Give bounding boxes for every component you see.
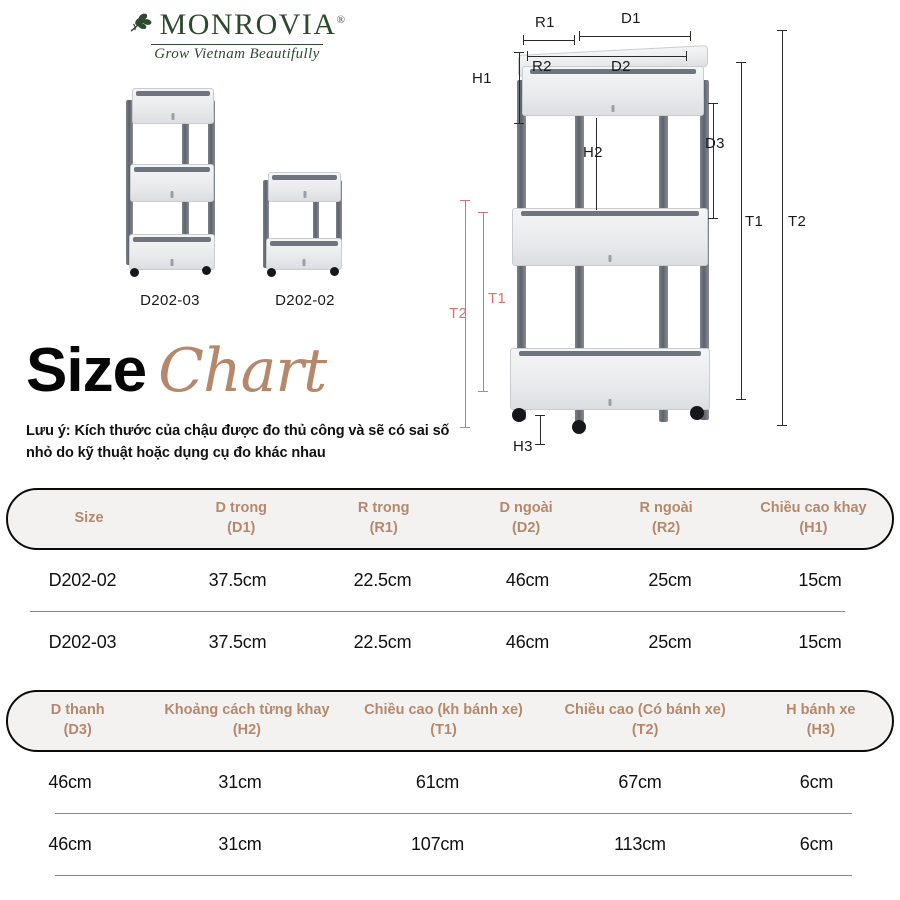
- label-r2: R2: [532, 58, 552, 75]
- table-cell: 31cm: [140, 772, 340, 793]
- table-cell: 46cm: [0, 834, 140, 855]
- table-cell: 15cm: [740, 632, 900, 653]
- measurement-note: Lưu ý: Kích thước của chậu được đo thủ c…: [26, 420, 456, 465]
- table-cell: 22.5cm: [310, 570, 455, 591]
- logo-divider: [151, 44, 323, 45]
- table-cell: 37.5cm: [165, 570, 310, 591]
- size-table-2: D thanh (D3) Khoảng cách từng khay (H2) …: [0, 690, 900, 876]
- technical-diagram: R1 D1 R2 D2 H1 H2 D3 T1: [455, 0, 900, 480]
- table-bottom-divider: [55, 875, 852, 876]
- table-cell: 15cm: [740, 570, 900, 591]
- table1-header-cell: Chiều cao khay (H1): [735, 499, 892, 538]
- table1-header-cell: D trong (D1): [170, 499, 312, 538]
- table2-header-cell: H bánh xe (H3): [750, 701, 892, 740]
- table-cell: 25cm: [600, 570, 740, 591]
- registered-mark: ®: [337, 14, 347, 26]
- table-cell: 46cm: [455, 570, 600, 591]
- table-cell: 6cm: [745, 772, 888, 793]
- table1-header-row: Size D trong (D1) R trong (R1) D ngoài (…: [6, 488, 894, 550]
- table-cell: 46cm: [455, 632, 600, 653]
- table2-header-row: D thanh (D3) Khoảng cách từng khay (H2) …: [6, 690, 894, 752]
- table-row: D202-03 37.5cm 22.5cm 46cm 25cm 15cm: [0, 612, 900, 673]
- table-cell: 37.5cm: [165, 632, 310, 653]
- table2-header-cell: Chiều cao (kh bánh xe) (T1): [346, 701, 540, 740]
- title-chart: Chart: [158, 341, 326, 401]
- label-h3: H3: [513, 438, 533, 455]
- table-row: D202-02 37.5cm 22.5cm 46cm 25cm 15cm: [0, 550, 900, 611]
- table-cell: 46cm: [0, 772, 140, 793]
- table-cell: 113cm: [535, 834, 745, 855]
- label-h1: H1: [472, 70, 492, 87]
- size-table-1: Size D trong (D1) R trong (R1) D ngoài (…: [0, 488, 900, 673]
- product-label-d202-03: D202-03: [110, 292, 230, 309]
- label-t2-right: T2: [788, 213, 806, 230]
- table-cell: 22.5cm: [310, 632, 455, 653]
- table1-header-cell: D ngoài (D2): [455, 499, 597, 538]
- label-t1-right: T1: [745, 213, 763, 230]
- table-row: 46cm 31cm 107cm 113cm 6cm: [0, 814, 900, 875]
- table-cell: 67cm: [535, 772, 745, 793]
- brand-logo: MONROVIA® Grow Vietnam Beautifully: [112, 8, 362, 63]
- table-cell: 31cm: [140, 834, 340, 855]
- title-size: Size: [26, 340, 146, 402]
- leaf-icon: [128, 10, 154, 41]
- table-cell: 107cm: [340, 834, 535, 855]
- label-h2: H2: [583, 144, 603, 161]
- label-t2-left: T2: [449, 305, 467, 322]
- table1-header-cell: R trong (R1): [312, 499, 454, 538]
- table-cell: D202-03: [0, 632, 165, 653]
- table2-header-cell: D thanh (D3): [8, 701, 147, 740]
- table-row: 46cm 31cm 61cm 67cm 6cm: [0, 752, 900, 813]
- table2-header-cell: Khoảng cách từng khay (H2): [147, 701, 346, 740]
- table-cell: 6cm: [745, 834, 888, 855]
- label-d1: D1: [621, 10, 641, 27]
- brand-tagline: Grow Vietnam Beautifully: [112, 46, 362, 63]
- brand-name: MONROVIA®: [160, 8, 347, 42]
- table-cell: 61cm: [340, 772, 535, 793]
- table-cell: 25cm: [600, 632, 740, 653]
- table1-header-cell: Size: [8, 509, 170, 529]
- label-r1: R1: [535, 14, 555, 31]
- product-image-d202-03: [118, 82, 223, 277]
- product-image-d202-02: [256, 168, 351, 278]
- label-d2: D2: [611, 58, 631, 75]
- label-d3: D3: [705, 135, 725, 152]
- label-t1-left: T1: [488, 290, 506, 307]
- product-label-d202-02: D202-02: [250, 292, 360, 309]
- table-cell: D202-02: [0, 570, 165, 591]
- cart-illustration: [500, 48, 730, 438]
- table1-header-cell: R ngoài (R2): [597, 499, 735, 538]
- page-title: Size Chart Lưu ý: Kích thước của chậu đư…: [26, 340, 456, 465]
- table2-header-cell: Chiều cao (Có bánh xe) (T2): [541, 701, 750, 740]
